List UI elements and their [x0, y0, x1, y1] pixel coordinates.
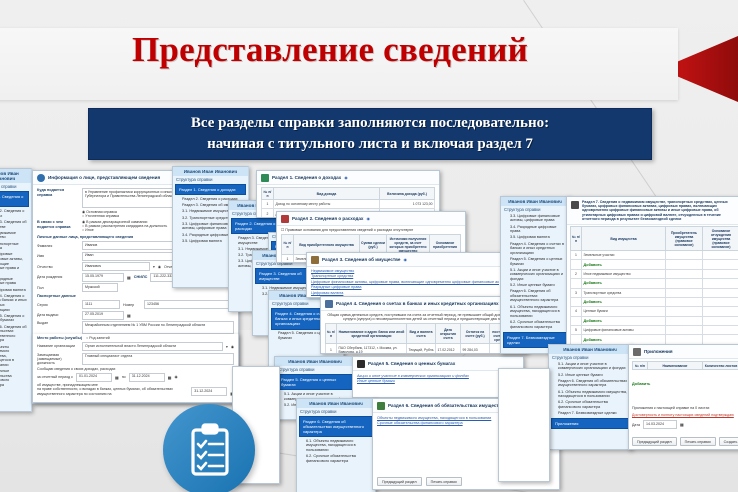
tree-item-3-3[interactable]: 3.3. Цифровые финансовые активы, цифровы…	[501, 213, 569, 224]
clipboard-checklist-icon	[163, 404, 255, 492]
radio-occupation[interactable]: ○ Род занятий	[86, 336, 110, 340]
section4-header-row: Раздел 4. Сведения о счетах в банках и и…	[321, 297, 527, 311]
section3-title: Раздел 3. Сведения об имуществе	[322, 257, 400, 262]
input-passport-date[interactable]: 27.05.2019	[82, 311, 124, 320]
cell-income-amount[interactable]: 1 073 123,00	[380, 200, 435, 209]
cell-bank-name[interactable]: ПАО Сбербанк, 117312, г. Москва, ул. Вав…	[337, 344, 407, 354]
cell-number: 1	[326, 344, 337, 354]
section1-title: Раздел 1. Сведения о доходах	[272, 175, 341, 180]
add-link[interactable]: Добавить	[584, 319, 602, 323]
tree-item[interactable]: Раздел 4. Сведения о счетах в банках и и…	[0, 293, 31, 313]
help-icon[interactable]: ◉	[403, 257, 407, 262]
paperclip-icon	[633, 348, 641, 356]
tree-owner-name: Иванов Иван Иванович	[0, 169, 31, 183]
col-bank-name: Наименование и адрес банка или иной кред…	[337, 324, 407, 344]
section7-header-row: Раздел 7. Сведения о недвижимом имуществ…	[567, 197, 738, 225]
tree-item[interactable]: Раздел 6. Сведения об обязательствах иму…	[0, 324, 31, 344]
cell-number: 1	[262, 200, 274, 209]
cell-property-kind[interactable]: Транспортные средства	[582, 288, 666, 297]
page-title: Представление сведений	[0, 30, 660, 70]
table-row[interactable]: 1 Доход по основному месту работы 1 073 …	[262, 200, 435, 209]
section2-checkbox[interactable]: ☐ Правовые основания для предоставления …	[281, 228, 461, 232]
tree-item-6-1[interactable]: 6.1. Объекты недвижимого имущества, нахо…	[297, 438, 375, 453]
tree-structure-label: Структура справки	[501, 206, 569, 213]
label-birthdate: Дата рождения	[37, 275, 79, 279]
window-section4[interactable]: Раздел 4. Сведения о счетах в банках и и…	[320, 296, 528, 354]
tree-item-6-1[interactable]: 6.1. Объекты недвижимого имущества, нахо…	[549, 389, 631, 400]
income-table-icon	[261, 174, 269, 182]
tree-item-section6[interactable]: Раздел 6. Сведения об обязательствах иму…	[549, 378, 631, 389]
label-firstname: Имя	[37, 254, 79, 258]
table-row-add[interactable]: Добавить	[571, 260, 738, 269]
col-open-date: Дата открытия счета	[436, 324, 461, 344]
tree-owner-name: Иванов Иван Иванович	[297, 399, 375, 408]
subtitle-line-1: Все разделы справки заполняются последов…	[191, 113, 549, 134]
col-property-kind: Вид имущества	[582, 227, 666, 251]
subtitle-line-2: начиная с титульного листа и включая раз…	[207, 134, 533, 155]
table-row[interactable]: 1Земельные участки	[571, 251, 738, 260]
input-patronymic[interactable]: Иванович	[82, 262, 150, 271]
col-number: № п/п	[262, 188, 274, 200]
tree-item-3-4[interactable]: 3.4. Разрядные цифровые права	[501, 224, 569, 235]
cell-property-kind[interactable]: Ценные бумаги	[582, 307, 666, 316]
period-intro: Сообщаю сведения о своих доходах, расход…	[37, 367, 234, 371]
window-section3[interactable]: Раздел 3. Сведения об имуществе ◉ Недвиж…	[306, 252, 504, 298]
label-passport-date: Дата выдачи	[37, 313, 79, 317]
tree-item[interactable]: 3.4. Разрядные цифровые права	[0, 276, 31, 287]
section2-header-row: Раздел 2. Сведения о расходах ◉	[277, 212, 465, 226]
attachments-note: Приложения к настоящей справке на 0 лист…	[632, 406, 738, 410]
tree-item-6-2[interactable]: 6.2. Срочные обязательства финансового х…	[501, 319, 569, 330]
calendar-icon[interactable]: ▦	[115, 375, 119, 380]
input-org-name[interactable]: Орган исполнительной власти Ленинградско…	[82, 342, 223, 351]
tree-item[interactable]: 6.2. Срочные обязательства финансового х…	[0, 368, 31, 388]
passport-header: Паспортные данные	[37, 294, 234, 298]
input-period-from[interactable]: 01.01.2024	[76, 373, 112, 382]
label-period-from: за отчетный период с	[37, 375, 73, 379]
input-passport-issuer[interactable]: Межрайонным отделением № 1 УВМ России по…	[82, 321, 234, 334]
tree-structure-label: Структура справки	[173, 176, 248, 183]
tree-item-5-1[interactable]: 5.1. Акции и иное участие в коммерческих…	[501, 267, 569, 282]
prev-section-button[interactable]: Предыдущий раздел	[377, 477, 422, 486]
tree-item-section4[interactable]: Раздел 4. Сведения о счетах в банках и и…	[501, 241, 569, 256]
col-name: Наименование	[648, 362, 703, 370]
attachments-header-row: Приложения	[629, 345, 738, 359]
tree-item[interactable]: Раздел 2. Сведения о расходах	[0, 208, 31, 219]
prev-section-button[interactable]: Предыдущий раздел	[632, 437, 677, 446]
bank-card-icon	[325, 300, 333, 308]
table-row-add[interactable]: Добавить	[571, 335, 738, 344]
subtitle-callout: Все разделы справки заполняются последов…	[88, 108, 652, 160]
cell-balance[interactable]: 99 284,03	[461, 344, 490, 354]
table-row[interactable]: 5Цифровые финансовые активы	[571, 326, 738, 335]
tree-item-section7[interactable]: Раздел 7. Безвозмездные сделки	[549, 410, 631, 416]
col-income-amount: Величина дохода (руб.)	[380, 188, 435, 200]
window-attachments[interactable]: Приложения № п/п Наименование Количество…	[628, 344, 738, 450]
attachments-table[interactable]: № п/п Наименование Количество листов	[632, 361, 738, 370]
tree-item[interactable]: Раздел 3. Сведения об имуществе	[0, 219, 31, 230]
cell-property-kind[interactable]: Земельные участки	[582, 251, 666, 260]
chevron-down-icon[interactable]: ▾	[226, 345, 228, 349]
label-patronymic: Отчество	[37, 265, 79, 269]
input-property-date[interactable]: 31.12.2024	[191, 387, 227, 396]
tree-structure-label: Структура справки	[275, 366, 355, 373]
create-button[interactable]: Создать	[719, 437, 738, 446]
help-icon[interactable]: ◉	[158, 265, 161, 269]
tree-item-6-2[interactable]: 6.2. Срочные обязательства финансового х…	[297, 453, 375, 464]
section4-title: Раздел 4. Сведения о счетах в банках и и…	[336, 301, 499, 306]
input-period-to[interactable]: 31.12.2024	[129, 373, 165, 382]
col-sheet-count: Количество листов	[703, 362, 738, 370]
tree-selected-section1[interactable]: Раздел 1. Сведения о доходах	[175, 184, 246, 195]
tree-item-6-2[interactable]: 6.2. Срочные обязательства финансового х…	[549, 400, 631, 411]
table-row-add[interactable]: Добавить	[571, 316, 738, 325]
col-alienation-basis: Основание отчуждения имущества (правовое…	[703, 227, 738, 251]
tree-item[interactable]: 3.1. Недвижимое имущество	[0, 230, 31, 241]
label-snils: СНИЛС	[134, 275, 148, 279]
window-title-page-footer[interactable]: Место работы (службы) ○ Род занятий Назв…	[32, 334, 239, 403]
add-link[interactable]: Добавить	[584, 300, 602, 304]
tree-item[interactable]: 3.3. Цифровые финансовые активы, включаю…	[0, 252, 31, 277]
cell-number: 2	[262, 209, 274, 218]
property-intro-2: на праве собственности, о вкладах в банк…	[37, 387, 188, 396]
briefcase-icon	[357, 360, 365, 368]
col-account-kind: Вид и валюта счета	[407, 324, 436, 344]
field-label-reason: В связи с чем подается справка	[37, 220, 79, 232]
col-balance: Остаток на счете (руб.)	[461, 324, 490, 344]
slide-canvas: Иванов Иван Иванович Структура справки Р…	[0, 0, 738, 492]
calendar-icon[interactable]: ▦	[680, 422, 684, 427]
label-passport-series: Серия	[37, 303, 79, 307]
tree-item-5-1[interactable]: 5.1. Акции и иное участие в коммерческих…	[549, 361, 631, 372]
tree-selected-section5[interactable]: Раздел 5. Сведения о ценных бумагах	[277, 374, 353, 390]
tree-item-section6[interactable]: Раздел 6. Сведения об обязательствах иму…	[501, 288, 569, 303]
table-row[interactable]: 1 ПАО Сбербанк, 117312, г. Москва, ул. В…	[326, 344, 523, 354]
col-acquirer: Приобретатель имущества (правовое основа…	[666, 227, 703, 251]
chevron-down-icon[interactable]: ▾	[153, 265, 155, 269]
expense-cart-icon	[281, 215, 289, 223]
window-tree-section7[interactable]: Иванов Иван Иванович Структура справки 3…	[500, 196, 570, 354]
label-passport-issuer: Выдан	[37, 321, 79, 334]
field-label-where: Куда подается справка	[37, 188, 79, 208]
confirm-checkbox[interactable]: Достоверность и полноту настоящих сведен…	[632, 413, 738, 417]
window-tree-section6[interactable]: Иванов Иван Иванович Структура справки Р…	[296, 398, 376, 492]
section2-title: Раздел 2. Сведения о расходах	[292, 216, 363, 221]
cell-property-kind[interactable]: Цифровые финансовые активы	[582, 326, 666, 335]
help-icon[interactable]: ◉	[366, 216, 370, 221]
tree-structure-label: Структура справки	[0, 183, 31, 190]
add-link[interactable]: Добавить	[584, 263, 602, 267]
tree-structure-label: Структура справки	[549, 354, 631, 361]
input-passport-number[interactable]: 123456	[144, 300, 234, 309]
section5-title: Раздел 5. Сведения о ценных бумагах	[368, 361, 455, 366]
table-row[interactable]: 3Транспортные средства	[571, 288, 738, 297]
tree-selected-attachments[interactable]: Приложения	[551, 418, 629, 429]
section1-header-row: Раздел 1. Сведения о доходах ◉	[257, 171, 439, 185]
calendar-icon[interactable]: ▦	[127, 275, 131, 280]
attachments-title: Приложения	[644, 349, 673, 354]
cell-account-kind[interactable]: Текущий, Рубль	[407, 344, 436, 354]
add-link[interactable]: Добавить	[584, 281, 602, 285]
tree-item-6-1[interactable]: 6.1. Объекты недвижимого имущества, нахо…	[501, 304, 569, 319]
print-button[interactable]: Печать справки	[426, 477, 462, 486]
tree-item-section5[interactable]: Раздел 5. Сведения о ценных бумагах	[501, 256, 569, 267]
label-position: Замещаемая (замещаемые) должность	[37, 353, 79, 366]
input-date[interactable]: 14.03.2024	[643, 420, 677, 429]
tree-item[interactable]: 3.2. Транспортные средства	[0, 241, 31, 252]
select-gender[interactable]: Мужской	[82, 283, 118, 292]
cell-number: 1	[282, 255, 294, 264]
tree-owner-name: Иванов Иван Иванович	[549, 345, 631, 354]
running-person-icon	[377, 402, 385, 410]
info-circle-icon	[37, 174, 45, 182]
tree-structure-label: Структура справки	[297, 408, 375, 415]
label-org-name: Название организации	[37, 344, 79, 348]
label-period-to: по	[122, 375, 126, 379]
table-row-add[interactable]: Добавить	[571, 279, 738, 288]
document-stamp-icon	[571, 201, 579, 209]
window-card-fragment-right[interactable]	[498, 368, 550, 482]
print-certificate-button[interactable]: Печать справки	[680, 437, 716, 446]
table-row-add[interactable]: Добавить	[571, 297, 738, 306]
add-attachment-link[interactable]: Добавить	[632, 382, 650, 386]
label-surname: Фамилия	[37, 244, 79, 248]
section3-header-row: Раздел 3. Сведения об имуществе ◉	[307, 253, 503, 267]
calendar-icon[interactable]: ▦	[127, 313, 131, 318]
link-other-securities[interactable]: Иные ценные бумаги	[357, 379, 519, 384]
title-page-header: Информация о лице, представляющем сведен…	[48, 175, 160, 180]
input-birthdate[interactable]: 15.05.1979	[82, 273, 124, 282]
tree-item[interactable]: Раздел 5. Сведения о ценных бумагах	[0, 313, 31, 324]
window-tree-attachments[interactable]: Иванов Иван Иванович Структура справки 5…	[548, 344, 632, 450]
tree-owner-name: Иванов Иван Иванович	[275, 357, 355, 366]
input-passport-series[interactable]: 1111	[82, 300, 120, 309]
window-tree-left-cut[interactable]: Иванов Иван Иванович Структура справки Р…	[0, 168, 32, 412]
section7-table[interactable]: № п/п Вид имущества Приобретатель имущес…	[570, 226, 738, 354]
tree-owner-name: Иванов Иван Иванович	[501, 197, 569, 206]
col-number: № п/п	[326, 324, 337, 344]
section4-table[interactable]: № п/п Наименование и адрес банка или ино…	[325, 323, 523, 354]
window-section7[interactable]: Раздел 7. Сведения о недвижимом имуществ…	[566, 196, 738, 354]
tree-selected-section6[interactable]: Раздел 6. Сведения об обязательствах иму…	[299, 416, 373, 437]
house-icon	[311, 256, 319, 264]
input-position[interactable]: Главный специалист отдела	[82, 353, 234, 365]
help-icon[interactable]: ◉	[344, 175, 348, 180]
section4-note: Общая сумма денежных средств, поступивши…	[325, 313, 523, 321]
tree-selected-item[interactable]: Раздел 1. Сведения о доходах	[0, 191, 29, 207]
label-date: Дата	[632, 423, 640, 427]
section7-title: Раздел 7. Сведения о недвижимом имуществ…	[582, 200, 738, 222]
cell-income-kind[interactable]: Доход по основному месту работы	[274, 200, 380, 209]
work-header: Место работы (службы)	[37, 336, 82, 340]
tree-item[interactable]: 6.1. Объекты недвижимого имущества, нахо…	[0, 344, 31, 369]
col-number: № п/п	[571, 227, 582, 251]
help-icon[interactable]: ◉	[231, 345, 234, 349]
table-row[interactable]: 4Ценные бумаги	[571, 307, 738, 316]
tree-owner-name: Иванов Иван Иванович	[173, 167, 248, 176]
calendar-icon[interactable]: ▦	[168, 375, 172, 380]
col-number: № п/п	[633, 362, 648, 370]
add-link[interactable]: Добавить	[584, 338, 602, 342]
label-passport-number: Номер	[123, 303, 141, 307]
help-icon[interactable]: ◉	[174, 375, 177, 379]
col-income-kind: Вид дохода	[274, 188, 380, 200]
col-number: № п/п	[282, 235, 294, 255]
label-gender: Пол	[37, 286, 79, 290]
cell-property-kind[interactable]: Иное недвижимое имущество	[582, 269, 666, 278]
cell-open-date[interactable]: 17.02.2012	[436, 344, 461, 354]
table-row[interactable]: 2Иное недвижимое имущество	[571, 269, 738, 278]
